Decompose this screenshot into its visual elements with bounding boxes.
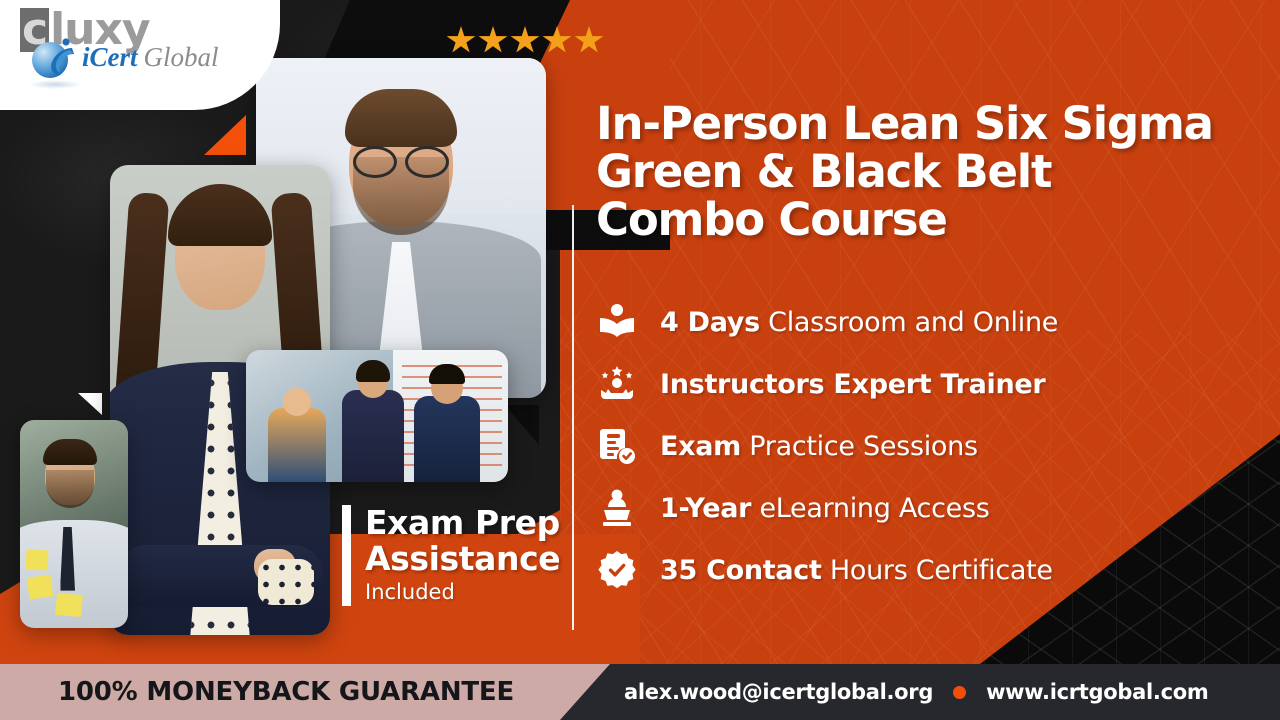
- feature-label: 4 Days Classroom and Online: [660, 307, 1058, 338]
- feature-item: 35 Contact Hours Certificate: [596, 549, 1268, 591]
- icert-text: iCert: [82, 42, 138, 72]
- rating-stars: [446, 26, 604, 55]
- feature-label: Instructors Expert Trainer: [660, 369, 1045, 400]
- moneyback-guarantee-text: 100% MONEYBACK GUARANTEE: [58, 664, 514, 720]
- podium-speaker-icon: [596, 487, 638, 529]
- feature-item: 1-Year eLearning Access: [596, 487, 1268, 529]
- star-icon: [510, 26, 540, 55]
- course-title: In-Person Lean Six Sigma Green & Black B…: [596, 100, 1268, 244]
- exam-prep-subtitle: Included: [365, 579, 560, 605]
- vertical-divider: [572, 205, 574, 630]
- star-icon: [446, 26, 476, 55]
- course-promo-banner: cluxy iCertGlobal In-Person Lean Six Sig…: [0, 0, 1280, 720]
- feature-list: 4 Days Classroom and Online Instructors …: [596, 301, 1268, 591]
- contact-website[interactable]: www.icrtgobal.com: [986, 680, 1208, 704]
- feature-regular: eLearning Access: [751, 493, 989, 524]
- globe-swoosh-icon: [32, 36, 80, 80]
- exam-prep-callout: Exam Prep Assistance Included: [342, 505, 560, 606]
- bullet-dot-icon: [953, 686, 966, 699]
- feature-regular: Practice Sessions: [741, 431, 978, 462]
- feature-item: 4 Days Classroom and Online: [596, 301, 1268, 343]
- star-icon: [542, 26, 572, 55]
- exam-prep-title: Exam Prep Assistance: [365, 505, 560, 576]
- feature-label: 1-Year eLearning Access: [660, 493, 989, 524]
- logo-reflection: [28, 80, 82, 89]
- brand-logo[interactable]: cluxy iCertGlobal: [20, 8, 250, 90]
- course-content: In-Person Lean Six Sigma Green & Black B…: [596, 100, 1268, 591]
- team-meeting-photo: [246, 350, 508, 482]
- feature-bold: Instructors Expert Trainer: [660, 369, 1045, 400]
- feature-label: Exam Practice Sessions: [660, 431, 978, 462]
- footer-contact: alex.wood@icertglobal.org www.icrtgobal.…: [624, 664, 1208, 720]
- man-with-sticky-notes-photo: [20, 420, 128, 628]
- star-icon: [478, 26, 508, 55]
- feature-bold: 35 Contact: [660, 555, 822, 586]
- feature-bold: Exam: [660, 431, 741, 462]
- logo-panel: cluxy iCertGlobal: [0, 0, 280, 110]
- icert-global-wordmark: iCertGlobal: [82, 44, 219, 71]
- feature-label: 35 Contact Hours Certificate: [660, 555, 1053, 586]
- feature-bold: 1-Year: [660, 493, 751, 524]
- exam-document-check-icon: [596, 425, 638, 467]
- feature-item: Exam Practice Sessions: [596, 425, 1268, 467]
- star-icon: [574, 26, 604, 55]
- badge-check-icon: [596, 549, 638, 591]
- feature-item: Instructors Expert Trainer: [596, 363, 1268, 405]
- footer-bar: 100% MONEYBACK GUARANTEE alex.wood@icert…: [0, 664, 1280, 720]
- feature-bold: 4 Days: [660, 307, 760, 338]
- feature-regular: Hours Certificate: [822, 555, 1053, 586]
- open-book-reader-icon: [596, 301, 638, 343]
- exam-prep-accent-bar: [342, 505, 351, 606]
- instructor-stars-icon: [596, 363, 638, 405]
- contact-email[interactable]: alex.wood@icertglobal.org: [624, 680, 933, 704]
- feature-regular: Classroom and Online: [760, 307, 1058, 338]
- global-text: Global: [144, 42, 219, 72]
